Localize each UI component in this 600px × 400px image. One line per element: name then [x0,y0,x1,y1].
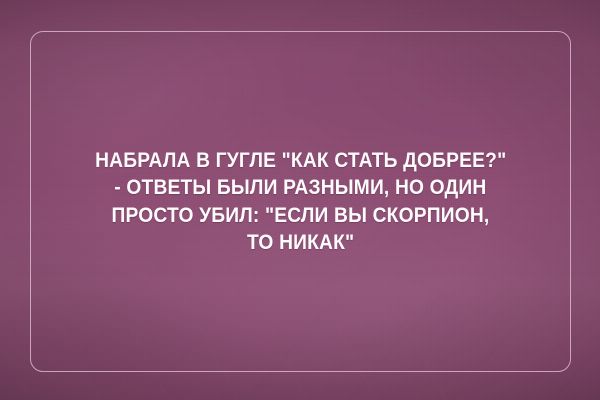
quote-line-2: - ОТВЕТЫ БЫЛИ РАЗНЫМИ, НО ОДИН [114,174,486,202]
quote-line-4: ТО НИКАК" [247,229,354,257]
quote-card: НАБРАЛА В ГУГЛЕ "КАК СТАТЬ ДОБРЕЕ?" - ОТ… [0,0,600,400]
quote-line-3: ПРОСТО УБИЛ: "ЕСЛИ ВЫ СКОРПИОН, [112,202,490,230]
quote-text-block: НАБРАЛА В ГУГЛЕ "КАК СТАТЬ ДОБРЕЕ?" - ОТ… [30,31,571,372]
quote-line-1: НАБРАЛА В ГУГЛЕ "КАК СТАТЬ ДОБРЕЕ?" [95,147,506,175]
